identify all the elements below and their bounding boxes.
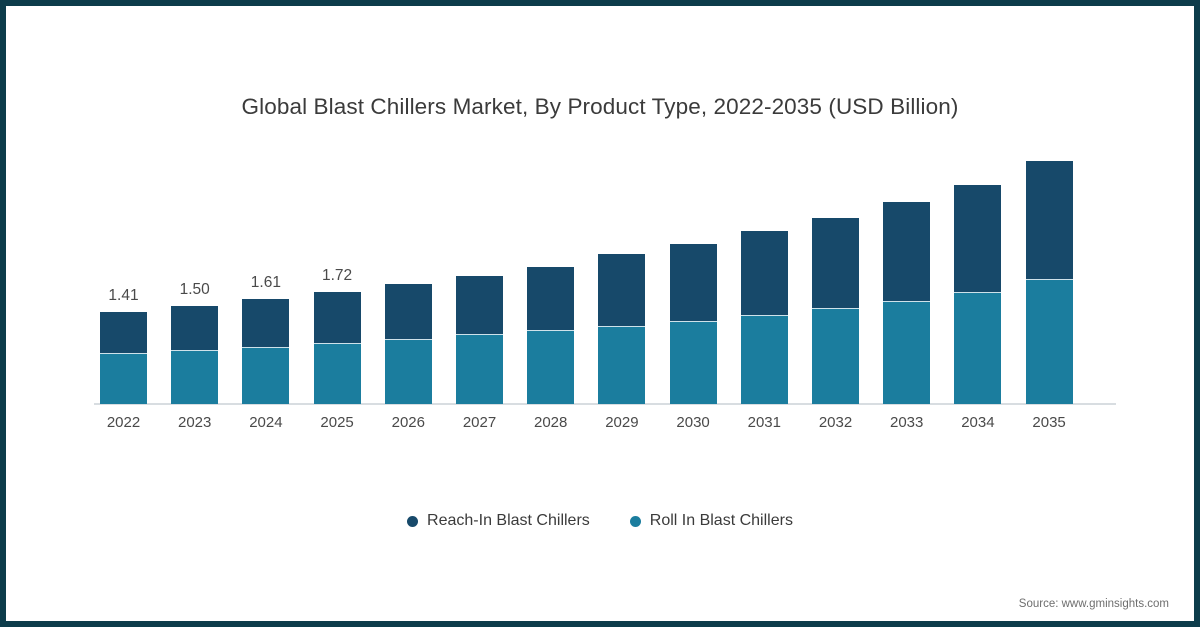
x-tick-label-2022: 2022 bbox=[100, 414, 147, 431]
bar-segment-reach-in-2033[interactable] bbox=[883, 202, 930, 301]
bar-value-label-2025: 1.72 bbox=[322, 267, 352, 285]
x-tick-label-2027: 2027 bbox=[456, 414, 503, 431]
bar-segment-roll-in-2025[interactable] bbox=[314, 343, 361, 404]
legend-item-roll-in[interactable]: Roll In Blast Chillers bbox=[630, 512, 793, 530]
page-title: Global Blast Chillers Market, By Product… bbox=[6, 94, 1194, 120]
bar-column-2035[interactable] bbox=[1026, 161, 1073, 404]
bar-segment-roll-in-2030[interactable] bbox=[670, 321, 717, 404]
bar-segment-roll-in-2029[interactable] bbox=[598, 326, 645, 404]
bar-segment-reach-in-2022[interactable] bbox=[100, 312, 147, 353]
bar-segment-roll-in-2027[interactable] bbox=[456, 334, 503, 404]
bar-column-2031[interactable] bbox=[741, 231, 788, 404]
x-tick-label-2030: 2030 bbox=[670, 414, 717, 431]
bar-column-2028[interactable] bbox=[527, 267, 574, 404]
x-tick-label-2034: 2034 bbox=[954, 414, 1001, 431]
x-tick-label-2026: 2026 bbox=[385, 414, 432, 431]
x-tick-label-2032: 2032 bbox=[812, 414, 859, 431]
bar-value-label-2024: 1.61 bbox=[251, 274, 281, 292]
source-attribution: Source: www.gminsights.com bbox=[1019, 598, 1169, 610]
bar-segment-roll-in-2022[interactable] bbox=[100, 353, 147, 404]
bar-segment-roll-in-2023[interactable] bbox=[171, 350, 218, 404]
legend-swatch-icon bbox=[630, 516, 641, 527]
bar-segment-reach-in-2029[interactable] bbox=[598, 254, 645, 326]
chart-canvas: Global Blast Chillers Market, By Product… bbox=[6, 6, 1194, 621]
x-tick-label-2031: 2031 bbox=[741, 414, 788, 431]
bar-column-2034[interactable] bbox=[954, 185, 1001, 404]
bar-column-2033[interactable] bbox=[883, 202, 930, 404]
bar-segment-reach-in-2026[interactable] bbox=[385, 284, 432, 339]
plot-area: 1.411.501.611.72 bbox=[100, 136, 1110, 404]
bar-segment-roll-in-2028[interactable] bbox=[527, 330, 574, 404]
bar-column-2026[interactable] bbox=[385, 284, 432, 404]
bar-segment-reach-in-2035[interactable] bbox=[1026, 161, 1073, 279]
bar-segment-roll-in-2035[interactable] bbox=[1026, 279, 1073, 404]
bar-segment-roll-in-2033[interactable] bbox=[883, 301, 930, 404]
x-tick-label-2029: 2029 bbox=[598, 414, 645, 431]
bar-segment-reach-in-2032[interactable] bbox=[812, 218, 859, 309]
bar-column-2029[interactable] bbox=[598, 254, 645, 404]
bar-segment-reach-in-2034[interactable] bbox=[954, 185, 1001, 292]
bar-column-2025[interactable]: 1.72 bbox=[314, 292, 361, 404]
x-tick-label-2025: 2025 bbox=[314, 414, 361, 431]
bar-segment-reach-in-2028[interactable] bbox=[527, 267, 574, 330]
bar-segment-roll-in-2031[interactable] bbox=[741, 315, 788, 404]
chart-legend: Reach-In Blast ChillersRoll In Blast Chi… bbox=[6, 512, 1194, 530]
bar-column-2030[interactable] bbox=[670, 244, 717, 404]
x-tick-label-2035: 2035 bbox=[1026, 414, 1073, 431]
bar-segment-roll-in-2032[interactable] bbox=[812, 308, 859, 404]
x-tick-label-2033: 2033 bbox=[883, 414, 930, 431]
x-tick-label-2023: 2023 bbox=[171, 414, 218, 431]
bar-value-label-2023: 1.50 bbox=[180, 281, 210, 299]
legend-item-reach-in[interactable]: Reach-In Blast Chillers bbox=[407, 512, 590, 530]
bar-segment-reach-in-2030[interactable] bbox=[670, 244, 717, 321]
legend-label: Reach-In Blast Chillers bbox=[427, 512, 590, 530]
bar-segment-reach-in-2031[interactable] bbox=[741, 231, 788, 314]
legend-label: Roll In Blast Chillers bbox=[650, 512, 793, 530]
legend-swatch-icon bbox=[407, 516, 418, 527]
bar-column-2027[interactable] bbox=[456, 276, 503, 404]
bar-segment-reach-in-2024[interactable] bbox=[242, 299, 289, 347]
bar-segment-reach-in-2027[interactable] bbox=[456, 276, 503, 335]
bar-column-2032[interactable] bbox=[812, 218, 859, 404]
bar-segment-roll-in-2024[interactable] bbox=[242, 347, 289, 404]
bar-segment-roll-in-2034[interactable] bbox=[954, 292, 1001, 404]
bar-value-label-2022: 1.41 bbox=[108, 287, 138, 305]
bar-column-2024[interactable]: 1.61 bbox=[242, 299, 289, 404]
bar-segment-reach-in-2023[interactable] bbox=[171, 306, 218, 350]
bar-segment-roll-in-2026[interactable] bbox=[385, 339, 432, 404]
x-tick-label-2024: 2024 bbox=[242, 414, 289, 431]
bar-segment-reach-in-2025[interactable] bbox=[314, 292, 361, 343]
bar-column-2022[interactable]: 1.41 bbox=[100, 312, 147, 404]
bar-column-2023[interactable]: 1.50 bbox=[171, 306, 218, 404]
x-axis-ticks: 2022202320242025202620272028202920302031… bbox=[100, 414, 1110, 440]
chart-page: Global Blast Chillers Market, By Product… bbox=[0, 0, 1200, 627]
x-tick-label-2028: 2028 bbox=[527, 414, 574, 431]
